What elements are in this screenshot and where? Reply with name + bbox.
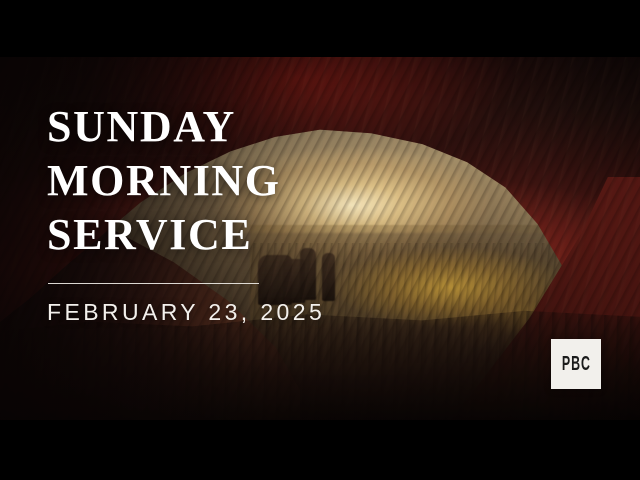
title-line-2: MORNING [47, 154, 377, 208]
pbc-logo: PBC [551, 339, 601, 389]
letterbox-bar-bottom [0, 420, 640, 480]
title-divider-rule [48, 283, 259, 284]
letterbox-bar-top [0, 0, 640, 57]
title-line-1: SUNDAY [47, 100, 377, 154]
pbc-logo-text: PBC [562, 354, 591, 374]
title-line-3: SERVICE [47, 208, 377, 262]
service-date: FEBRUARY 23, 2025 [47, 299, 377, 325]
title-block: SUNDAY MORNING SERVICE FEBRUARY 23, 2025 [47, 100, 377, 325]
video-thumbnail-frame: SUNDAY MORNING SERVICE FEBRUARY 23, 2025… [0, 0, 640, 480]
